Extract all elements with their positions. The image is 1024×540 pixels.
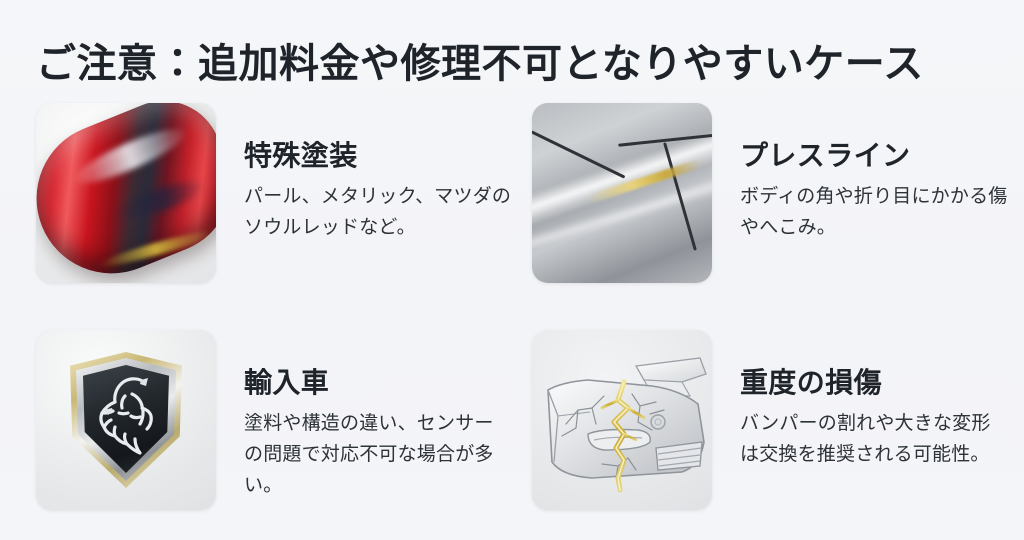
- case-item: 重度の損傷 バンパーの割れや大きな変形は交換を推奨される可能性。: [532, 330, 1012, 510]
- slide-root: ご注意：追加料金や修理不可となりやすいケース 特殊塗装 パール、メタリック、マツ…: [0, 0, 1024, 540]
- case-text-block: プレスライン ボディの角や折り目にかかる傷やへこみ。: [712, 103, 1008, 243]
- case-item: 輸入車 塗料や構造の違い、センサーの問題で対応不可な場合が多い。: [36, 330, 516, 510]
- case-description: ボディの角や折り目にかかる傷やへこみ。: [740, 181, 1008, 243]
- case-grid: 特殊塗装 パール、メタリック、マツダのソウルレッドなど。 プレスライン ボ: [0, 103, 1024, 523]
- case-heading: プレスライン: [740, 139, 1008, 173]
- special-paint-photo: [36, 103, 216, 283]
- case-heading: 輸入車: [244, 366, 512, 400]
- case-description: 塗料や構造の違い、センサーの問題で対応不可な場合が多い。: [244, 408, 512, 501]
- shield-emblem: [70, 352, 182, 488]
- case-text-block: 重度の損傷 バンパーの割れや大きな変形は交換を推奨される可能性。: [712, 330, 1008, 470]
- case-item: 特殊塗装 パール、メタリック、マツダのソウルレッドなど。: [36, 103, 516, 283]
- case-heading: 特殊塗装: [244, 139, 512, 173]
- press-line-photo: [532, 103, 712, 283]
- case-text-block: 特殊塗装 パール、メタリック、マツダのソウルレッドなど。: [216, 103, 512, 243]
- page-title: ご注意：追加料金や修理不可となりやすいケース: [36, 35, 996, 93]
- case-description: パール、メタリック、マツダのソウルレッドなど。: [244, 181, 512, 243]
- imported-car-emblem-photo: [36, 330, 216, 510]
- case-description: バンパーの割れや大きな変形は交換を推奨される可能性。: [740, 408, 1008, 470]
- case-item: プレスライン ボディの角や折り目にかかる傷やへこみ。: [532, 103, 1012, 283]
- case-text-block: 輸入車 塗料や構造の違い、センサーの問題で対応不可な場合が多い。: [216, 330, 512, 501]
- cracked-bumper-icon: [532, 330, 712, 510]
- lion-head-icon: [86, 368, 166, 464]
- case-heading: 重度の損傷: [740, 366, 1008, 400]
- severe-damage-illustration: [532, 330, 712, 510]
